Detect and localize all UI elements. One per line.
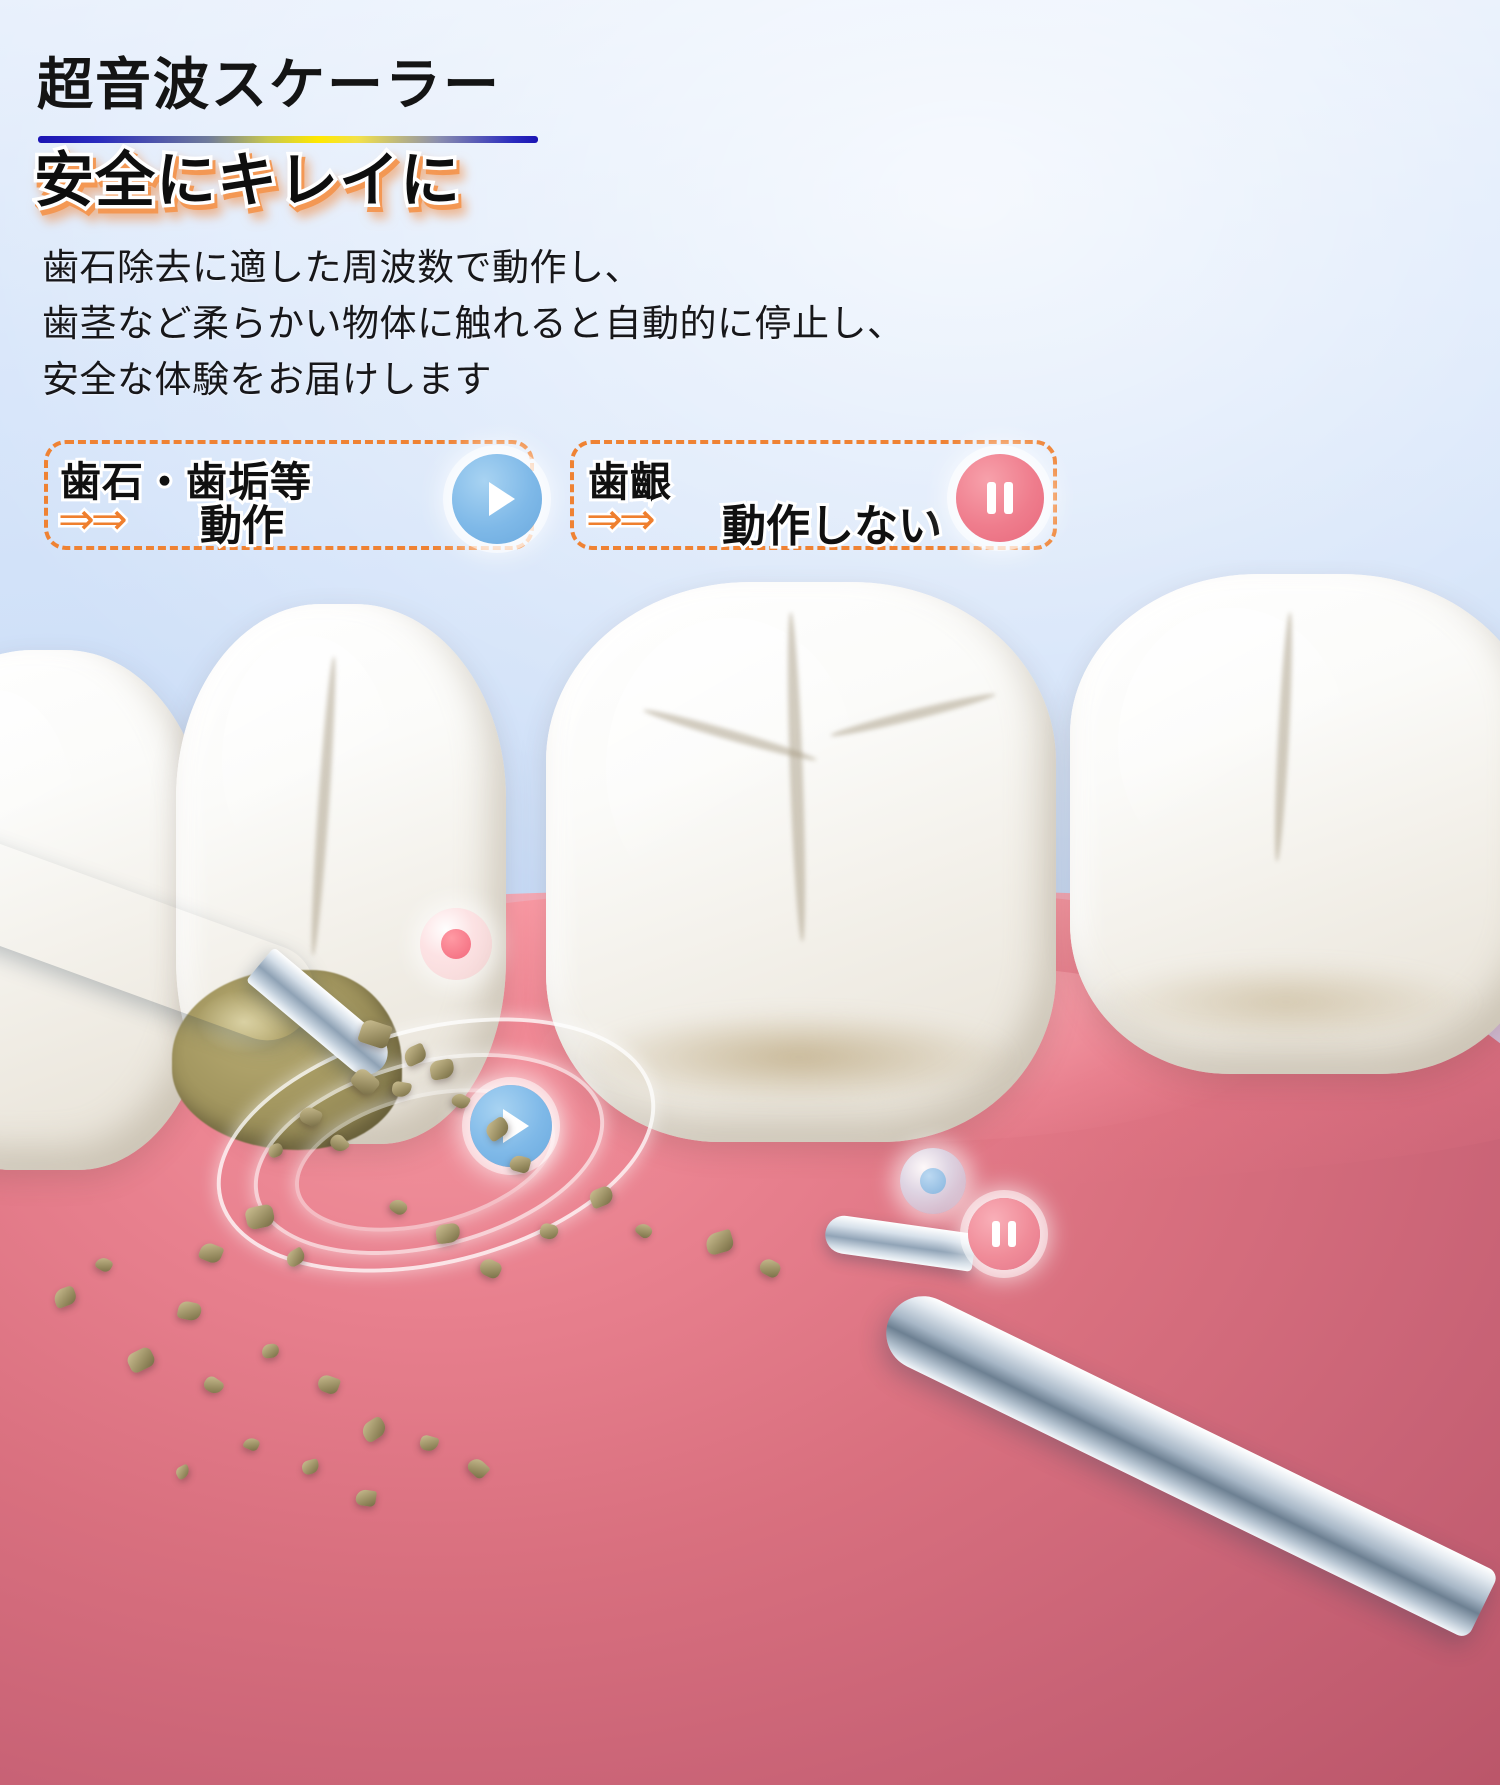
double-arrow-icon: ⇒⇒ — [586, 494, 652, 545]
title-divider — [38, 136, 538, 143]
pause-bars-icon — [992, 1221, 1016, 1247]
pause-icon — [968, 1198, 1040, 1270]
play-icon — [452, 454, 542, 544]
tooth-stain — [1096, 962, 1476, 1042]
dental-illustration — [0, 560, 1500, 1785]
tooth-gloss — [1118, 608, 1348, 878]
blue-dot-icon — [900, 1148, 966, 1214]
tooth-gloss — [606, 618, 856, 918]
body-copy: 歯石除去に適した周波数で動作し、 歯茎など柔らかい物体に触れると自動的に停止し、… — [42, 240, 905, 409]
debris-chip — [355, 1489, 377, 1508]
badge-gums: 歯齦 ⇒⇒ 動作しない — [570, 440, 1057, 550]
scaler-shaft — [874, 1284, 1500, 1640]
page-title: 超音波スケーラー — [37, 57, 501, 113]
body-line-1: 歯石除去に適した周波数で動作し、 — [42, 240, 905, 296]
red-dot-icon — [420, 908, 492, 980]
feature-badges: 歯石・歯垢等 ⇒⇒ 動作 歯齦 ⇒⇒ 動作しない — [0, 440, 1500, 560]
badge-result-label: 動作 — [200, 492, 284, 553]
badge-tartar-plaque: 歯石・歯垢等 ⇒⇒ 動作 — [44, 440, 534, 550]
pause-bars-icon — [987, 482, 1013, 514]
body-line-2: 歯茎など柔らかい物体に触れると自動的に停止し、 — [42, 296, 905, 352]
lower-scaler-tool — [830, 1240, 1500, 1660]
badge-result-label: 動作しない — [722, 490, 942, 554]
page-subtitle: 安全にキレイに — [34, 146, 461, 215]
double-arrow-icon: ⇒⇒ — [58, 494, 124, 545]
pause-icon — [956, 454, 1044, 542]
body-line-3: 安全な体験をお届けします — [42, 352, 905, 408]
play-triangle-icon — [489, 482, 515, 516]
product-feature-image: 超音波スケーラー 安全にキレイに 歯石除去に適した周波数で動作し、 歯茎など柔ら… — [0, 0, 1500, 1785]
upper-scaler-tool — [0, 796, 430, 1006]
play-icon — [470, 1085, 552, 1167]
